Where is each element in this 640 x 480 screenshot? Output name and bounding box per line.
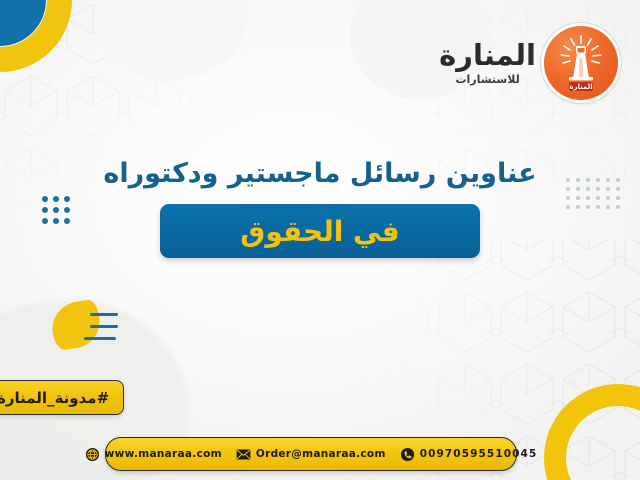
leaf-line-icon — [90, 313, 118, 316]
headline-line-1: عناوين رسائل ماجستير ودكتوراه — [0, 158, 640, 189]
leaf-line-icon — [84, 337, 116, 340]
brand-wordmark: المنارة للاستشارات — [439, 41, 536, 85]
blue-dot-grid-icon — [42, 196, 75, 229]
hashtag-badge: #مدونة_المنارة — [0, 380, 124, 415]
brand-tagline: للاستشارات — [439, 74, 536, 85]
contact-item-phone[interactable]: 00970595510045 — [400, 447, 538, 462]
contact-item-email[interactable]: Order@manaraa.com — [236, 447, 386, 462]
envelope-icon — [236, 447, 251, 462]
globe-icon — [85, 447, 100, 462]
headline-container: عناوين رسائل ماجستير ودكتوراه — [0, 158, 640, 189]
brand-logo: المنارة للاستشارات — [439, 26, 618, 100]
banner-canvas: المنارة للاستشارات — [0, 0, 640, 480]
contact-email-text: Order@manaraa.com — [256, 448, 386, 460]
contact-phone-text: 00970595510045 — [420, 448, 538, 460]
hashtag-label: #مدونة_المنارة — [0, 389, 109, 407]
leaf-motif-icon — [52, 300, 148, 352]
contact-bar: www.manaraa.com Order@manaraa.com 009705… — [105, 437, 517, 471]
decor-blob-top — [96, 0, 246, 80]
subject-title-box: في الحقوق — [160, 204, 480, 258]
contact-website-text: www.manaraa.com — [105, 448, 222, 460]
leaf-line-icon — [90, 325, 118, 328]
svg-text:المنارة: المنارة — [569, 83, 592, 91]
brand-name: المنارة — [439, 41, 536, 70]
corner-yellow-arc-icon — [544, 384, 640, 480]
lighthouse-icon: المنارة — [544, 26, 618, 100]
phone-icon — [400, 447, 415, 462]
contact-item-website[interactable]: www.manaraa.com — [85, 447, 222, 462]
headline-line-2: في الحقوق — [240, 215, 399, 248]
